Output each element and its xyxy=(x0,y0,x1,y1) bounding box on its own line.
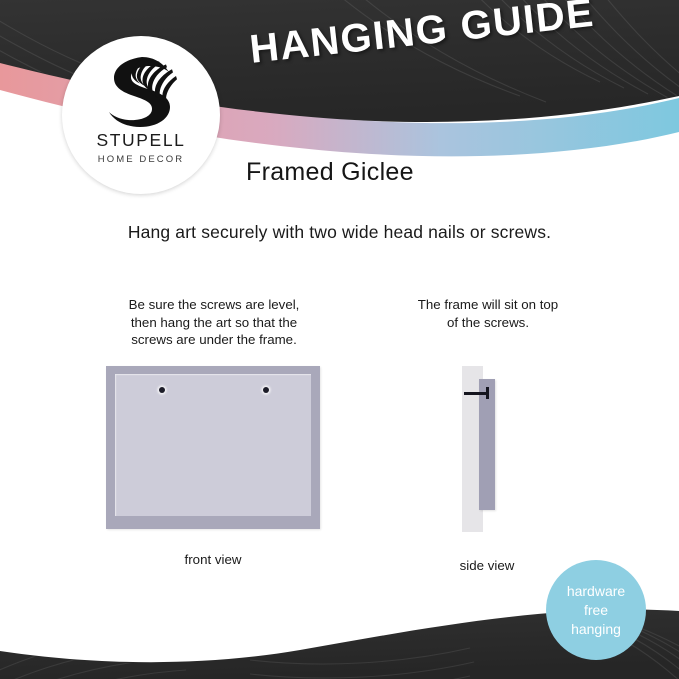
side-view-label: side view xyxy=(405,558,569,573)
side-view-screw-shaft-icon xyxy=(464,392,488,395)
front-panel-caption: Be sure the screws are level, then hang … xyxy=(86,296,342,349)
side-caption-line-2: of the screws. xyxy=(380,314,596,332)
side-caption-line-1: The frame will sit on top xyxy=(380,296,596,314)
logo-brand-name: STUPELL xyxy=(96,130,185,151)
front-view-frame-diagram xyxy=(106,366,320,529)
front-view-label: front view xyxy=(106,552,320,567)
lead-instruction: Hang art securely with two wide head nai… xyxy=(0,222,679,243)
badge-line-3: hanging xyxy=(571,620,621,639)
front-caption-line-1: Be sure the screws are level, xyxy=(86,296,342,314)
screw-dot-right-icon xyxy=(263,387,269,393)
side-view-frame-diagram xyxy=(462,366,522,532)
product-subtitle: Framed Giclee xyxy=(246,158,414,187)
stupell-swoosh-mark xyxy=(98,54,184,128)
front-caption-line-2: then hang the art so that the xyxy=(86,314,342,332)
hanging-guide-page: STUPELL HOME DECOR HANGING GUIDE Framed … xyxy=(0,0,679,679)
page-title: HANGING GUIDE xyxy=(248,0,597,73)
hardware-free-hanging-badge: hardware free hanging xyxy=(546,560,646,660)
badge-line-1: hardware xyxy=(567,582,625,601)
logo-brand-subtitle: HOME DECOR xyxy=(98,154,184,165)
badge-line-2: free xyxy=(584,601,608,620)
side-panel-caption: The frame will sit on top of the screws. xyxy=(380,296,596,331)
front-caption-line-3: screws are under the frame. xyxy=(86,331,342,349)
front-view-mat xyxy=(115,374,311,516)
screw-dot-left-icon xyxy=(159,387,165,393)
side-view-screw-head-icon xyxy=(486,387,489,399)
stupell-logo-badge: STUPELL HOME DECOR xyxy=(62,36,220,194)
